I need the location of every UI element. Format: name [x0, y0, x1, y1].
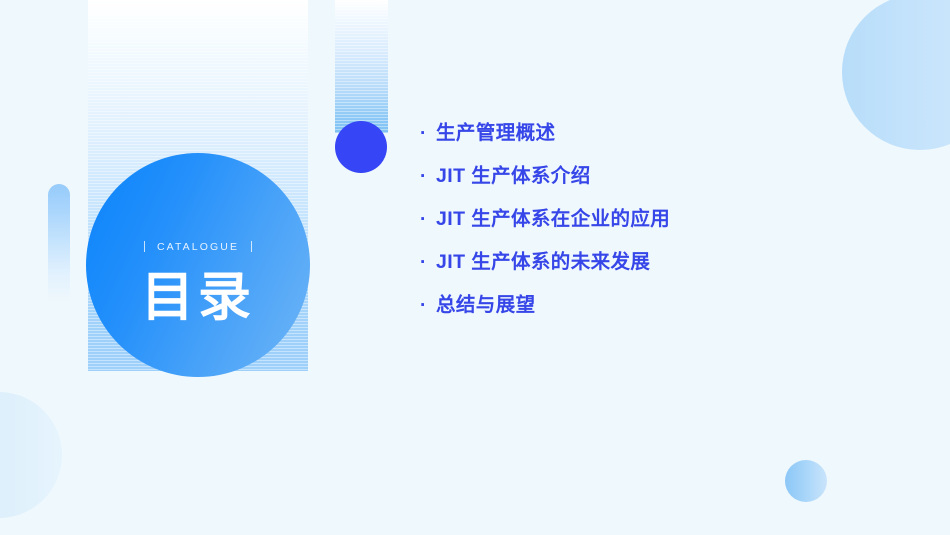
toc-item-5[interactable]: · 总结与展望	[420, 296, 890, 339]
toc-item-label: JIT 生产体系在企业的应用	[436, 210, 670, 230]
small-dot-bottom-right	[785, 460, 827, 502]
tick-left-icon	[144, 241, 145, 252]
toc-item-label: JIT 生产体系介绍	[436, 167, 591, 187]
pale-circle-bottom-left	[0, 392, 62, 518]
indigo-dot-decoration	[335, 121, 387, 173]
toc-item-label: 总结与展望	[436, 296, 536, 316]
catalogue-eyebrow-label: CATALOGUE	[157, 241, 239, 253]
bullet-dot-icon: ·	[420, 253, 436, 272]
toc-item-2[interactable]: · JIT 生产体系介绍	[420, 167, 890, 210]
toc-item-1[interactable]: · 生产管理概述	[420, 124, 890, 167]
bullet-dot-icon: ·	[420, 167, 436, 186]
toc-item-4[interactable]: · JIT 生产体系的未来发展	[420, 253, 890, 296]
toc-item-label: 生产管理概述	[436, 124, 555, 144]
tick-right-icon	[251, 241, 252, 252]
bullet-dot-icon: ·	[420, 210, 436, 229]
catalogue-title: 目录	[141, 271, 255, 324]
gradient-band-small	[335, 0, 388, 133]
slide-catalogue: CATALOGUE 目录 · 生产管理概述 · JIT 生产体系介绍 · JIT…	[0, 0, 950, 535]
catalogue-badge-circle: CATALOGUE 目录	[86, 153, 310, 377]
catalogue-eyebrow-row: CATALOGUE	[144, 241, 252, 253]
toc-item-label: JIT 生产体系的未来发展	[436, 253, 650, 273]
bullet-dot-icon: ·	[420, 124, 436, 143]
pill-decoration-left	[48, 184, 70, 302]
bullet-dot-icon: ·	[420, 296, 436, 315]
toc-item-3[interactable]: · JIT 生产体系在企业的应用	[420, 210, 890, 253]
table-of-contents: · 生产管理概述 · JIT 生产体系介绍 · JIT 生产体系在企业的应用 ·…	[420, 124, 890, 339]
